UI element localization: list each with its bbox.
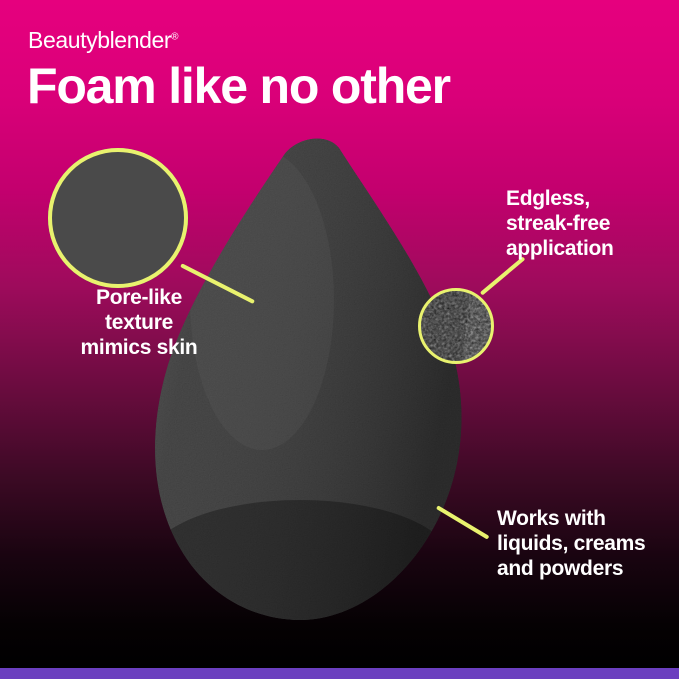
callout-label-liquids: Works with liquids, creams and powders <box>497 506 679 581</box>
callout-line: Works with <box>497 506 679 531</box>
brand-name: Beautyblender <box>28 27 171 53</box>
magnifier-circle-edgeless <box>418 288 494 364</box>
magnifier-circle-pore-texture <box>48 148 188 288</box>
page-title: Foam like no other <box>27 57 450 115</box>
callout-label-pore-texture: Pore-like texture mimics skin <box>44 285 234 360</box>
callout-line: mimics skin <box>44 335 234 360</box>
sponge-body <box>140 130 470 630</box>
callout-line: application <box>506 236 679 261</box>
callout-label-edgeless: Edgless, streak-free application <box>506 186 679 261</box>
callout-line: streak-free <box>506 211 679 236</box>
callout-line: Edgless, <box>506 186 679 211</box>
bottom-color-band <box>0 668 679 679</box>
callout-line: Pore-like <box>44 285 234 310</box>
product-marketing-image: Beautyblender® Foam like no other Pore-l… <box>0 0 679 679</box>
callout-line: texture <box>44 310 234 335</box>
callout-line: liquids, creams <box>497 531 679 556</box>
brand-wordmark: Beautyblender® <box>28 27 178 54</box>
callout-line: and powders <box>497 556 679 581</box>
registered-trademark-icon: ® <box>171 31 178 42</box>
